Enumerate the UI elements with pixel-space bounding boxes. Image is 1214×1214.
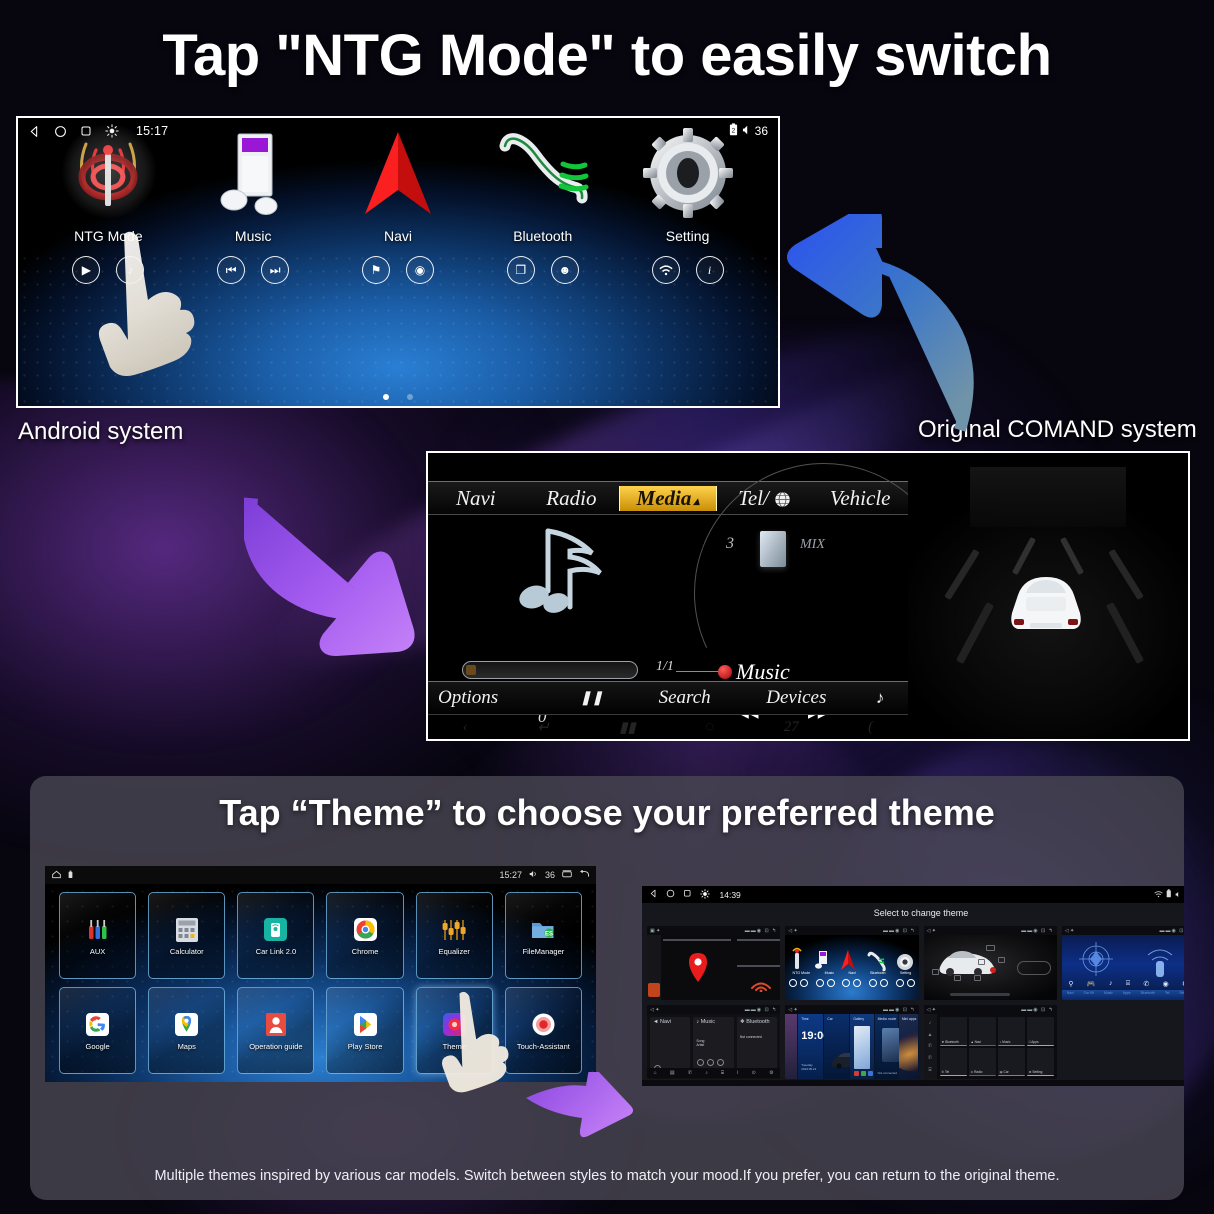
app-label: Maps xyxy=(178,1042,196,1051)
chooser-status-bar: 14:39 20 xyxy=(642,886,1184,903)
home-icon[interactable] xyxy=(52,870,61,881)
source-indicator-dot xyxy=(718,665,732,679)
theme-chooser-unit: 14:39 20 Select to change theme ▣ ✦▬▬◉ ⊡… xyxy=(642,886,1184,1086)
volume-icon xyxy=(529,870,538,880)
svg-text:ES: ES xyxy=(545,931,553,937)
volume-value: 36 xyxy=(755,124,768,138)
app-label: FileManager xyxy=(523,947,565,956)
theme-navigation-map[interactable]: ▣ ✦▬▬◉ ⊡ ↰ xyxy=(647,926,780,1000)
page-indicator xyxy=(18,394,778,400)
app-bluetooth[interactable]: Bluetooth ❐ ☻ xyxy=(483,126,603,284)
chooser-header: Select to change theme xyxy=(642,903,1184,922)
comand-media-screen: Navi Radio Media▴ Tel/ Vehicle xyxy=(428,453,908,739)
app-drawer-status-bar: 15:27 36 xyxy=(45,866,596,884)
app-label: Touch-Assistant xyxy=(517,1042,570,1051)
theme-thumbnail-grid: ▣ ✦▬▬◉ ⊡ ↰ xyxy=(642,922,1184,1080)
purple-arrow-right-icon xyxy=(522,1072,642,1167)
calculator-icon xyxy=(173,916,201,944)
app-label: Setting xyxy=(628,228,748,244)
android-head-unit: 15:17 2 36 xyxy=(16,116,780,408)
battery-icon xyxy=(1166,889,1172,900)
app-navi[interactable]: Navi ⚑ ◉ xyxy=(338,126,458,284)
equalizer-icon xyxy=(440,916,468,944)
connector-line xyxy=(676,671,724,672)
music-note-button[interactable]: ♪ xyxy=(116,256,144,284)
theme-icon xyxy=(440,1011,468,1039)
volume-value: 36 xyxy=(545,870,555,880)
map-pin-button[interactable]: ◉ xyxy=(406,256,434,284)
contacts-button[interactable]: ☻ xyxy=(551,256,579,284)
theme-dark-tiles[interactable]: ◁ ✦▬▬◉ ⊡ ↰ ♪▲✆✆⌸ ❖ Bluetooth ▲ Navi ♪ Mu… xyxy=(924,1005,1057,1079)
disc-number: 3 xyxy=(726,535,734,553)
back-icon[interactable] xyxy=(579,870,590,880)
tab-media-label: Media xyxy=(637,486,692,510)
app-label: Bluetooth xyxy=(483,228,603,244)
recents-icon[interactable] xyxy=(562,870,572,880)
brightness-icon[interactable] xyxy=(700,889,710,901)
navigation-arrow-icon xyxy=(338,126,458,218)
next-track-button[interactable]: ⏭ xyxy=(261,256,289,284)
play-store-icon xyxy=(351,1011,379,1039)
play-button[interactable]: ▶ xyxy=(72,256,100,284)
back-triangle-icon[interactable] xyxy=(649,889,658,900)
tab-navi[interactable]: Navi xyxy=(428,486,524,511)
theme-section-footer: Multiple themes inspired by various car … xyxy=(30,1168,1184,1184)
file-manager-icon: ES xyxy=(529,916,557,944)
previous-track-button[interactable]: ⏮ xyxy=(217,256,245,284)
gear-icon xyxy=(628,126,748,218)
android-home-screen: NTG Mode ▶ ♪ M xyxy=(18,144,778,408)
app-calculator[interactable]: Calculator xyxy=(148,892,225,979)
app-touch-assistant[interactable]: Touch-Assistant xyxy=(505,987,582,1074)
destination-flag-button[interactable]: ⚑ xyxy=(362,256,390,284)
blue-curved-arrow-icon xyxy=(784,214,994,444)
app-play-store[interactable]: Play Store xyxy=(326,987,403,1074)
app-label: Music xyxy=(193,228,313,244)
wifi-button[interactable] xyxy=(652,256,680,284)
app-label: NTG Mode xyxy=(48,228,168,244)
ntg-highlight-glow xyxy=(62,124,156,218)
app-label: Car Link 2.0 xyxy=(256,947,296,956)
car-link-icon xyxy=(262,916,290,944)
pause-button[interactable]: ❚❚ xyxy=(554,690,628,707)
app-label: AUX xyxy=(90,947,105,956)
app-car-link[interactable]: Car Link 2.0 xyxy=(237,892,314,979)
app-label: Equalizer xyxy=(439,947,470,956)
app-label: Calculator xyxy=(170,947,204,956)
app-file-manager[interactable]: ES FileManager xyxy=(505,892,582,979)
app-theme[interactable]: Theme xyxy=(416,987,493,1074)
tab-media[interactable]: Media▴ xyxy=(619,486,717,511)
status-time: 15:27 xyxy=(499,870,522,880)
comand-bottom-bar: Options ❚❚ Search Devices ♪ xyxy=(428,681,908,715)
devices-button[interactable]: Devices xyxy=(740,687,852,709)
app-grid: AUX Calculator xyxy=(45,884,596,1082)
audio-output-icon[interactable]: ♪ xyxy=(852,688,908,708)
theme-section-title: Tap “Theme” to choose your preferred the… xyxy=(30,792,1184,834)
comand-head-unit: Navi Radio Media▴ Tel/ Vehicle xyxy=(426,451,1190,741)
options-button[interactable]: Options xyxy=(428,687,554,709)
touch-assistant-icon xyxy=(529,1011,557,1039)
tab-radio[interactable]: Radio xyxy=(524,486,620,511)
battery-icon xyxy=(68,870,73,881)
mix-label: MIX xyxy=(800,537,825,553)
recents-square-icon[interactable] xyxy=(683,889,692,900)
track-index: 1/1 xyxy=(656,659,674,675)
chevron-up-icon: ▴ xyxy=(693,494,699,508)
phone-pair-button[interactable]: ❐ xyxy=(507,256,535,284)
app-aux[interactable]: AUX xyxy=(59,892,136,979)
home-circle-icon[interactable] xyxy=(666,889,675,900)
android-app-drawer-unit: 15:27 36 xyxy=(45,866,596,1082)
maps-icon xyxy=(173,1011,201,1039)
theme-blue-radar[interactable]: ◁ ✦▬▬◉ ⊡ ↰ ⚲🎮♪ xyxy=(1062,926,1184,1000)
info-button[interactable]: i xyxy=(696,256,724,284)
app-drawer-body: AUX Calculator xyxy=(45,884,596,1082)
app-label: Navi xyxy=(338,228,458,244)
music-note-icon xyxy=(193,126,313,218)
search-button[interactable]: Search xyxy=(629,687,741,709)
wifi-icon xyxy=(1154,890,1163,900)
app-label: Google xyxy=(85,1042,109,1051)
app-label: Play Store xyxy=(348,1042,383,1051)
progress-bar[interactable] xyxy=(462,661,638,679)
bluetooth-phone-icon xyxy=(483,126,603,218)
chrome-icon xyxy=(351,916,379,944)
app-operation-guide[interactable]: Operation guide xyxy=(237,987,314,1074)
app-chrome[interactable]: Chrome xyxy=(326,892,403,979)
comand-now-playing: 3 MIX 00:00 -04:22 0 1/1 Music ◀◀ ▶▶ xyxy=(428,515,908,675)
status-time: 14:39 xyxy=(720,890,741,900)
back-triangle-icon[interactable] xyxy=(28,125,41,138)
google-icon xyxy=(84,1011,112,1039)
app-maps[interactable]: Maps xyxy=(148,987,225,1074)
operation-guide-icon xyxy=(262,1011,290,1039)
app-google[interactable]: Google xyxy=(59,987,136,1074)
caption-android-system: Android system xyxy=(18,418,183,446)
rear-view-car-display xyxy=(908,453,1188,739)
music-note-icon xyxy=(504,521,612,641)
reflection-row: ‹↵▮▮◌27( xyxy=(428,715,908,739)
app-label: Theme xyxy=(443,1042,466,1051)
purple-curved-arrow-down-icon xyxy=(244,492,434,667)
page-title: Tap "NTG Mode" to easily switch xyxy=(0,22,1214,89)
app-ntg-mode[interactable]: NTG Mode ▶ ♪ xyxy=(48,126,168,284)
theme-white-car[interactable]: ◁ ✦▬▬◉ ⊡ ↰ xyxy=(924,926,1057,1000)
theme-dark-cards[interactable]: ◁ ✦▬▬◉ ⊡ ↰ ◄ Navi ♪ Music SongArtist xyxy=(647,1005,780,1079)
media-source-icon xyxy=(760,531,786,567)
app-music[interactable]: Music ⏮ ⏭ xyxy=(193,126,313,284)
theme-blue-icons[interactable]: ◁ ✦▬▬◉ ⊡ ↰ NTG ModeMusicNaviBluetoothSet… xyxy=(785,926,918,1000)
app-equalizer[interactable]: Equalizer xyxy=(416,892,493,979)
app-label: Operation guide xyxy=(249,1042,302,1051)
app-label: Chrome xyxy=(352,947,379,956)
app-setting[interactable]: Setting i xyxy=(628,126,748,284)
volume-icon xyxy=(1175,890,1182,900)
car-illustration-icon xyxy=(996,561,1096,645)
aux-jacks-icon xyxy=(84,916,112,944)
theme-blue-widgets[interactable]: ◁ ✦▬▬◉ ⊡ ↰ Time 19:06 Tuesday2024.05.21 … xyxy=(785,1005,918,1079)
theme-section-panel: Tap “Theme” to choose your preferred the… xyxy=(30,776,1184,1200)
